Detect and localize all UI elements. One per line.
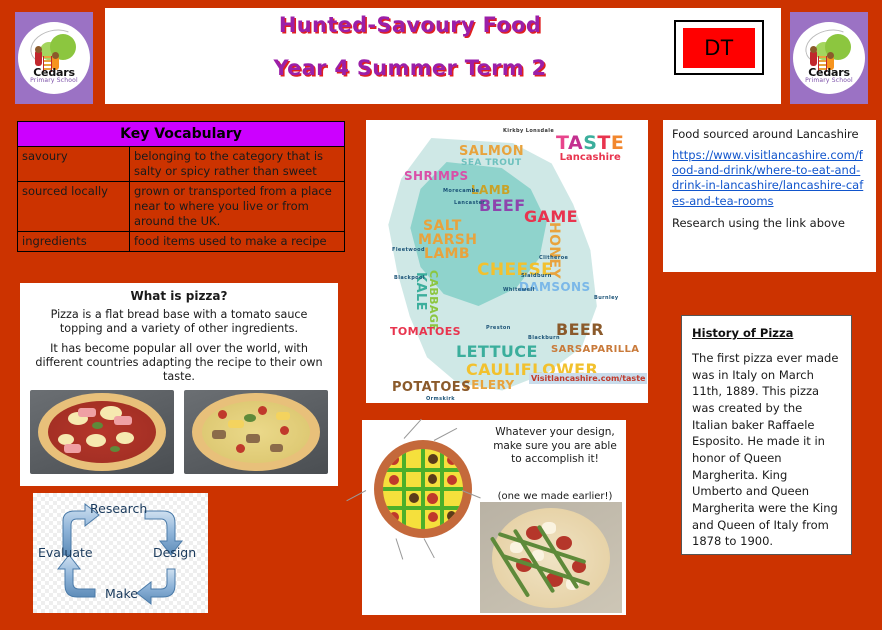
map-town-preston: Preston <box>486 325 511 331</box>
taste-lancashire-map: TASTE Lancashire SALMON SEA TROUT SHRIMP… <box>366 120 648 403</box>
taste-letter: S <box>583 132 597 154</box>
map-label-honey: HONEY <box>546 222 562 279</box>
drawn-pizza-crust <box>374 440 472 538</box>
map-town-burnley: Burnley <box>594 295 619 301</box>
taste-letter: T <box>597 132 610 154</box>
subject-badge-label: DT <box>683 28 755 68</box>
taste-letter: A <box>568 132 583 154</box>
child-head-icon-2 <box>827 52 834 59</box>
pizza-photo-pair <box>28 390 330 474</box>
map-town-ormskirk: Ormskirk <box>426 396 455 402</box>
key-vocabulary-header: Key Vocabulary <box>18 122 345 147</box>
pizza-photo-vegetable <box>184 390 328 474</box>
subject-badge: DT <box>674 20 764 75</box>
table-row: ingredients food items used to make a re… <box>18 231 345 251</box>
history-of-pizza-body: The first pizza ever made was in Italy o… <box>692 350 841 550</box>
vocab-term: savoury <box>18 147 130 182</box>
page-title: Hunted-Savoury Food Year 4 Summer Term 2 <box>170 14 650 79</box>
map-town-blackpool: Blackpool <box>394 275 425 281</box>
child-head-icon-2 <box>52 52 59 59</box>
map-label-lettuce: LETTUCE <box>456 342 538 361</box>
map-label-sea-trout: SEA TROUT <box>461 158 522 168</box>
child-head-icon-1 <box>35 46 42 53</box>
map-label-tomatoes: TOMATOES <box>390 325 461 338</box>
vocab-term: ingredients <box>18 231 130 251</box>
map-label-shrimps: SHRIMPS <box>404 169 469 183</box>
made-pizza-photo <box>480 502 622 613</box>
title-line-topic: Hunted-Savoury Food <box>170 14 650 36</box>
map-label-salmon: SALMON <box>459 144 524 159</box>
logo-circle: Cedars Primary School <box>18 22 90 94</box>
vocab-definition: grown or transported from a place near t… <box>130 182 345 232</box>
design-cycle-diagram: Research Design Make Evaluate <box>33 493 208 613</box>
map-label-beer: BEER <box>556 320 604 339</box>
drawn-pizza-topping-area <box>383 449 463 529</box>
cycle-label-design: Design <box>153 545 196 560</box>
logo-circle: Cedars Primary School <box>793 22 865 94</box>
what-is-pizza-title: What is pizza? <box>28 289 330 303</box>
taste-lancashire-brand: TASTE Lancashire <box>556 132 624 163</box>
map-town-kirkby-lonsdale: Kirkby Lonsdale <box>503 128 554 134</box>
what-is-pizza-panel: What is pizza? Pizza is a flat bread bas… <box>20 283 338 486</box>
research-link-panel: Food sourced around Lancashire https://w… <box>663 120 876 272</box>
map-town-slaidburn: Slaidburn <box>521 273 552 279</box>
history-of-pizza-panel: History of Pizza The first pizza ever ma… <box>681 315 852 555</box>
key-vocabulary-table: Key Vocabulary savoury belonging to the … <box>17 121 345 252</box>
cycle-label-research: Research <box>90 501 147 516</box>
title-line-term: Year 4 Summer Term 2 <box>170 57 650 79</box>
school-logo-right: Cedars Primary School <box>790 12 868 104</box>
design-instruction-text: Whatever your design, make sure you are … <box>488 426 622 467</box>
design-note-text: (one we made earlier!) <box>488 491 622 502</box>
taste-letter: T <box>556 132 568 154</box>
history-of-pizza-title: History of Pizza <box>692 326 841 340</box>
map-town-morecambe: Morecambe <box>443 188 479 194</box>
map-label-cabbage: CABBAGE <box>427 270 440 331</box>
map-town-blackburn: Blackburn <box>528 335 560 341</box>
cycle-label-evaluate: Evaluate <box>38 545 93 560</box>
vocab-definition: food items used to make a recipe <box>130 231 345 251</box>
map-label-sarsaparilla: SARSAPARILLA <box>551 344 639 355</box>
vocab-definition: belonging to the category that is salty … <box>130 147 345 182</box>
table-header-row: Key Vocabulary <box>18 122 345 147</box>
map-town-clitheroe: Clitheroe <box>539 255 568 261</box>
what-is-pizza-para-2: It has become popular all over the world… <box>28 342 330 384</box>
pizza-design-panel: Whatever your design, make sure you are … <box>362 420 626 615</box>
map-town-whitewell: Whitewell <box>503 287 535 293</box>
map-label-beef: BEEF <box>479 196 526 215</box>
taste-brand-subtitle: Lancashire <box>556 152 624 163</box>
taste-letter: E <box>611 132 624 154</box>
map-label-lamb-2: LAMB <box>424 246 470 262</box>
research-link-heading: Food sourced around Lancashire <box>672 127 867 141</box>
map-url-label: Visitlancashire.com/taste <box>529 373 647 384</box>
visit-lancashire-link[interactable]: https://www.visitlancashire.com/food-and… <box>672 148 867 209</box>
table-row: savoury belonging to the category that i… <box>18 147 345 182</box>
logo-subtitle: Primary School <box>793 77 865 84</box>
map-town-fleetwood: Fleetwood <box>392 247 425 253</box>
pizza-design-drawing <box>362 420 484 615</box>
vocab-term: sourced locally <box>18 182 130 232</box>
what-is-pizza-para-1: Pizza is a flat bread base with a tomato… <box>28 308 330 336</box>
pizza-photo-ham-pineapple <box>30 390 174 474</box>
taste-wordmark: TASTE <box>556 132 624 154</box>
child-head-icon-1 <box>810 46 817 53</box>
school-logo-left: Cedars Primary School <box>15 12 93 104</box>
logo-subtitle: Primary School <box>18 77 90 84</box>
research-link-footer: Research using the link above <box>672 216 867 230</box>
map-town-lancaster: Lancaster <box>454 200 485 206</box>
table-row: sourced locally grown or transported fro… <box>18 182 345 232</box>
cycle-label-make: Make <box>105 586 138 601</box>
map-label-potatoes: POTATOES <box>392 380 471 395</box>
